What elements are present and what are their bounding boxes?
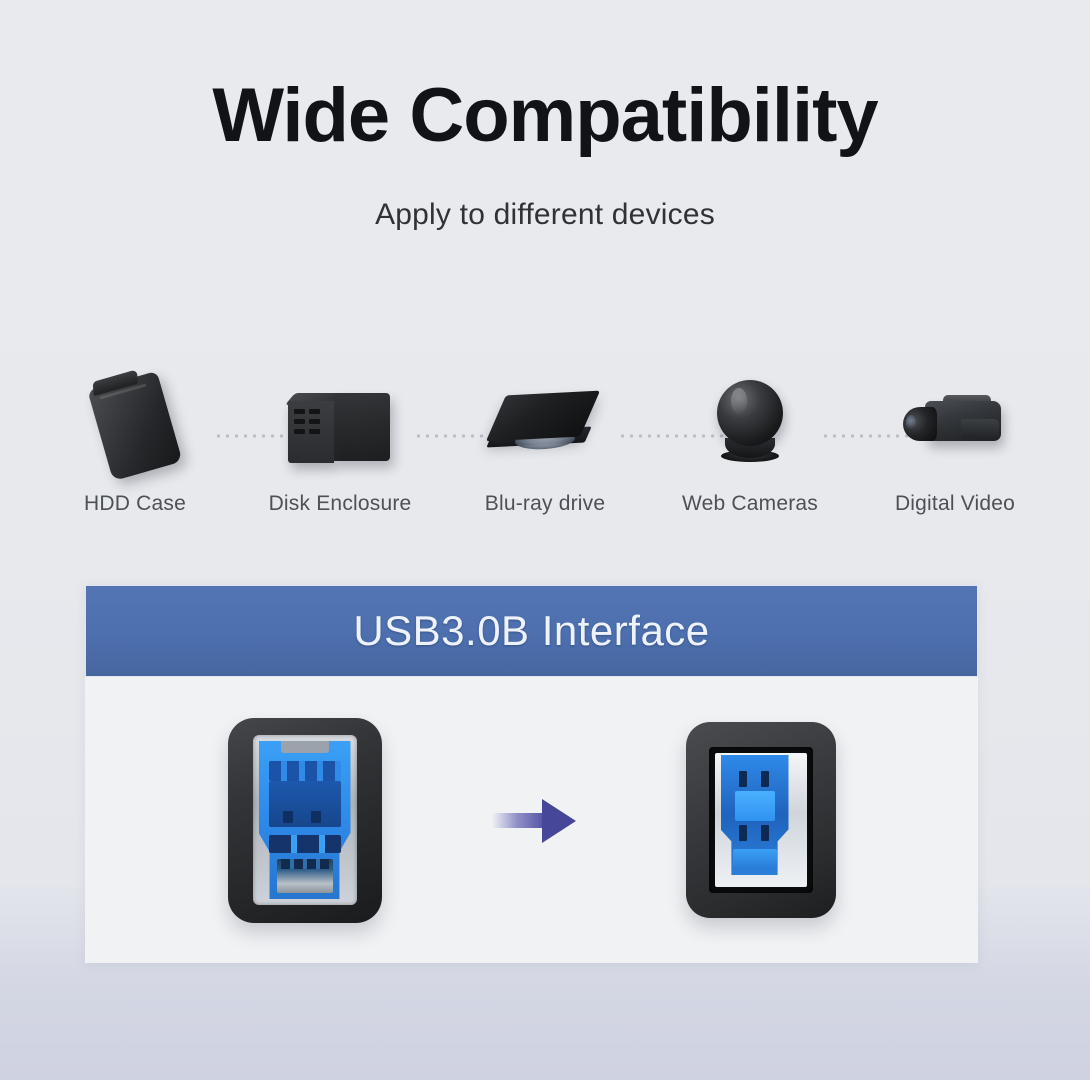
usb3-type-b-plug-icon [228,718,382,923]
usb-interface-card: USB3.0B Interface [85,585,978,963]
compatible-devices-strip: HDD Case Disk Enclosure Blu-ray drive [46,372,1044,532]
camcorder-icon [890,372,1020,480]
device-item-disk-enclosure: Disk Enclosure [251,372,429,516]
page-header: Wide Compatibility Apply to different de… [0,78,1090,232]
device-item-digital-video: Digital Video [866,372,1044,516]
arrow-right-icon [486,797,582,843]
device-item-bluray-drive: Blu-ray drive [456,372,634,516]
device-label-bluray-drive: Blu-ray drive [485,492,605,516]
page-subtitle: Apply to different devices [0,154,1090,232]
web-camera-icon [685,372,815,480]
usb-interface-banner: USB3.0B Interface [85,585,978,677]
usb-interface-banner-title: USB3.0B Interface [353,607,709,655]
page-title: Wide Compatibility [0,78,1090,154]
device-label-disk-enclosure: Disk Enclosure [269,492,412,516]
usb-interface-card-body [85,677,978,963]
device-label-digital-video: Digital Video [895,492,1015,516]
device-item-web-cameras: Web Cameras [661,372,839,516]
bluray-drive-icon [480,372,610,480]
disk-enclosure-icon [275,372,405,480]
usb3-type-b-port-icon [686,722,836,918]
device-label-hdd-case: HDD Case [84,492,186,516]
device-label-web-cameras: Web Cameras [682,492,818,516]
hdd-case-icon [70,372,200,480]
device-item-hdd-case: HDD Case [46,372,224,516]
